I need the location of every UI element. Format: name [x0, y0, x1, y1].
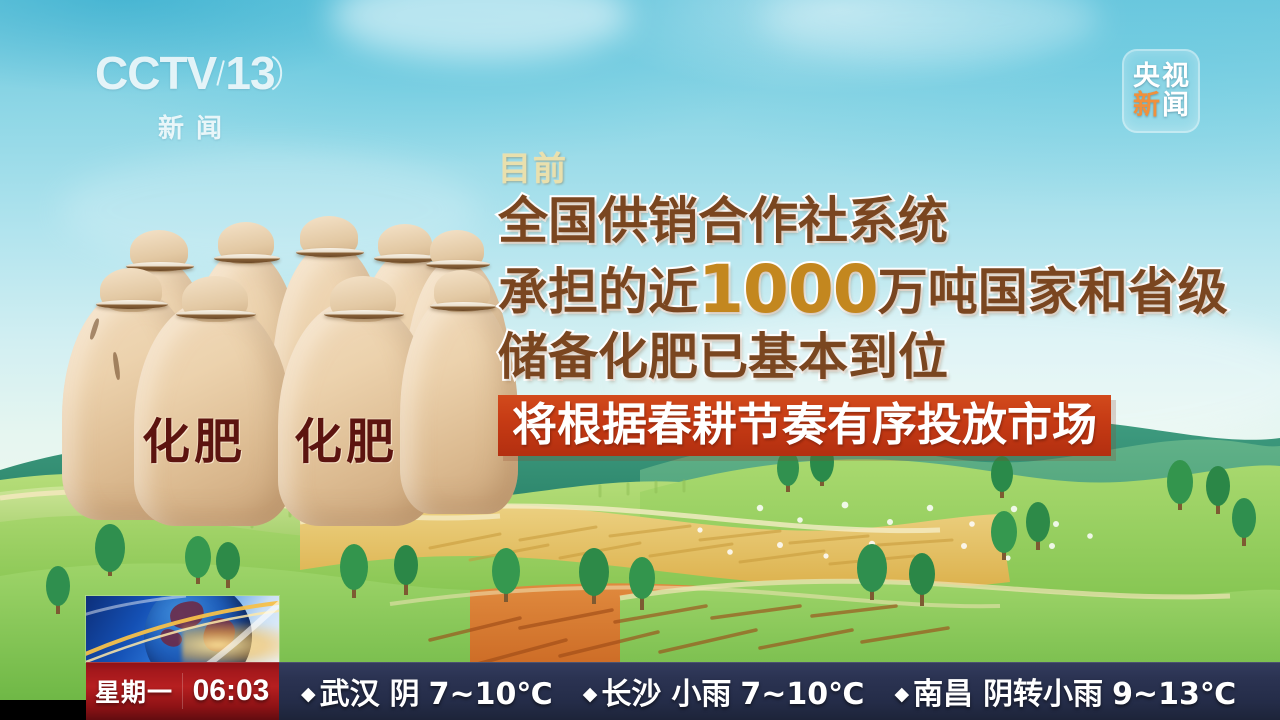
- bag-label-left: 化肥: [142, 402, 246, 472]
- cctv-logo-number: 13: [225, 50, 274, 96]
- weather-temperature: 7~10℃: [429, 677, 553, 712]
- broadcast-frame: 化肥 化肥 CCTV 13 新闻 央 视 新 闻 目前 全国供销合作社系统: [0, 0, 1280, 720]
- bag-label-right: 化肥: [294, 402, 398, 472]
- cctv-news-watermark: 央 视 新 闻: [1122, 49, 1200, 133]
- weather-city: 长沙: [601, 669, 661, 713]
- headline-line-1: 全国供销合作社系统: [498, 192, 1228, 251]
- headline-kicker: 目前: [498, 152, 1228, 185]
- headline-number: 1000: [698, 251, 878, 328]
- weekday-label: 星期一: [86, 673, 182, 709]
- cctv-logo: CCTV 13 新闻: [95, 44, 285, 136]
- datetime-bar: 星期一 06:03: [86, 662, 279, 720]
- globe-thumbnail: [86, 596, 279, 662]
- diamond-bullet-icon: ◆: [301, 683, 316, 705]
- weather-condition: 阴: [390, 669, 420, 713]
- watermark-char-xin: 新: [1133, 92, 1160, 120]
- headline-line-2-suffix: 万吨国家和省级: [878, 263, 1228, 321]
- weather-condition: 小雨: [671, 669, 731, 713]
- weather-temperature: 9~13℃: [1112, 677, 1236, 712]
- weather-item: ◆ 南昌 阴转小雨 9~13℃: [872, 669, 1244, 713]
- weather-temperature: 7~10℃: [740, 677, 864, 712]
- watermark-char-wen: 闻: [1162, 92, 1189, 120]
- watermark-char-yang: 央: [1133, 63, 1160, 91]
- headline-red-banner: 将根据春耕节奏有序投放市场: [498, 395, 1111, 456]
- watermark-char-shi: 视: [1162, 63, 1189, 91]
- diamond-bullet-icon: ◆: [583, 683, 598, 705]
- weather-item: ◆ 长沙 小雨 7~10℃: [561, 669, 873, 713]
- clock-label: 06:03: [183, 674, 279, 708]
- logo-arc-icon: [271, 44, 285, 102]
- news-headline-block: 目前 全国供销合作社系统 承担的近1000万吨国家和省级 储备化肥已基本到位 将…: [498, 152, 1228, 456]
- weather-city: 武汉: [320, 669, 380, 713]
- cctv-logo-text: CCTV: [95, 50, 216, 96]
- cctv-logo-sub: 新闻: [95, 108, 285, 145]
- headline-line-2: 承担的近1000万吨国家和省级: [498, 251, 1228, 328]
- diamond-bullet-icon: ◆: [894, 683, 909, 705]
- headline-line-3: 储备化肥已基本到位: [498, 328, 1228, 387]
- weather-city: 南昌: [913, 669, 973, 713]
- headline-line-2-prefix: 承担的近: [498, 263, 698, 321]
- weather-ticker[interactable]: ◆ 武汉 阴 7~10℃ ◆ 长沙 小雨 7~10℃ ◆ 南昌 阴转小雨 9~1…: [279, 662, 1280, 720]
- weather-condition: 阴转小雨: [983, 669, 1103, 713]
- weather-item: ◆ 武汉 阴 7~10℃: [279, 669, 561, 713]
- globe-swoosh-icon: [86, 596, 279, 662]
